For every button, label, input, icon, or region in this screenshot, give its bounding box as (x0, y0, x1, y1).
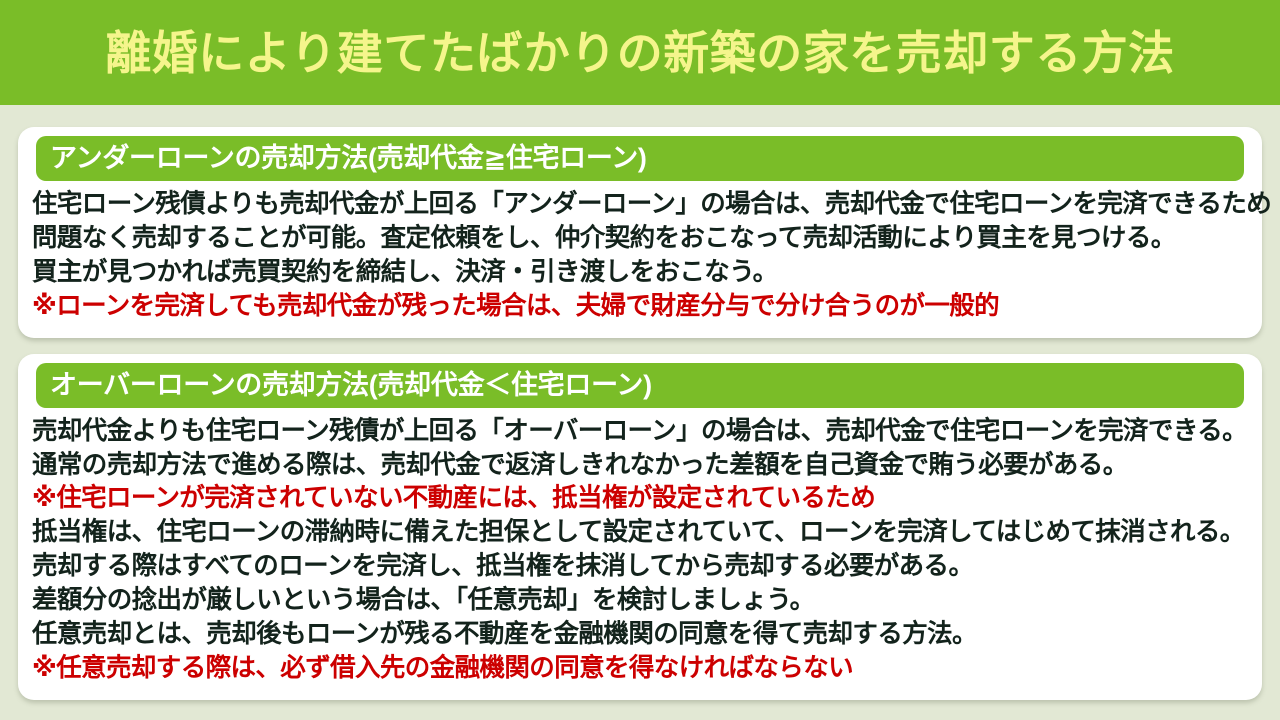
section-header-over-loan: オーバーローンの売却方法(売却代金＜住宅ローン) (36, 363, 1244, 408)
body-line: 売却代金よりも住宅ローン残債が上回る「オーバーローン」の場合は、売却代金で住宅ロ… (32, 415, 1248, 449)
body-line: 買主が見つかれば売買契約を締結し、決済・引き渡しをおこなう。 (32, 256, 1248, 290)
body-line: 任意売却とは、売却後もローンが残る不動産を金融機関の同意を得て売却する方法。 (32, 618, 1248, 652)
section-body-over-loan: 売却代金よりも住宅ローン残債が上回る「オーバーローン」の場合は、売却代金で住宅ロ… (18, 408, 1262, 686)
section-heading-text: アンダーローンの売却方法(売却代金≧住宅ローン) (50, 145, 647, 172)
body-line: 通常の売却方法で進める際は、売却代金で返済しきれなかった差額を自己資金で賄う必要… (32, 449, 1248, 483)
section-card-under-loan: アンダーローンの売却方法(売却代金≧住宅ローン) 住宅ローン残債よりも売却代金が… (18, 127, 1262, 338)
body-line-note: ※ローンを完済しても売却代金が残った場合は、夫婦で財産分与で分け合うのが一般的 (32, 290, 1248, 324)
body-line: 抵当権は、住宅ローンの滞納時に備えた担保として設定されていて、ローンを完済しては… (32, 516, 1248, 550)
page-title: 離婚により建てたばかりの新築の家を売却する方法 (105, 30, 1175, 76)
section-header-under-loan: アンダーローンの売却方法(売却代金≧住宅ローン) (36, 136, 1244, 181)
page-title-band: 離婚により建てたばかりの新築の家を売却する方法 (0, 0, 1280, 105)
body-line: 売却する際はすべてのローンを完済し、抵当権を抹消してから売却する必要がある。 (32, 550, 1248, 584)
body-line: 住宅ローン残債よりも売却代金が上回る「アンダーローン」の場合は、売却代金で住宅ロ… (32, 188, 1248, 222)
body-line: 差額分の捻出が厳しいという場合は、「任意売却」を検討しましょう。 (32, 584, 1248, 618)
body-line-note: ※住宅ローンが完済されていない不動産には、抵当権が設定されているため (32, 482, 1248, 516)
sections-container: アンダーローンの売却方法(売却代金≧住宅ローン) 住宅ローン残債よりも売却代金が… (0, 105, 1280, 700)
section-body-under-loan: 住宅ローン残債よりも売却代金が上回る「アンダーローン」の場合は、売却代金で住宅ロ… (18, 181, 1262, 324)
body-line-note: ※任意売却する際は、必ず借入先の金融機関の同意を得なければならない (32, 652, 1248, 686)
body-line: 問題なく売却することが可能。査定依頼をし、仲介契約をおこなって売却活動により買主… (32, 222, 1248, 256)
section-heading-text: オーバーローンの売却方法(売却代金＜住宅ローン) (50, 372, 652, 399)
section-card-over-loan: オーバーローンの売却方法(売却代金＜住宅ローン) 売却代金よりも住宅ローン残債が… (18, 354, 1262, 700)
